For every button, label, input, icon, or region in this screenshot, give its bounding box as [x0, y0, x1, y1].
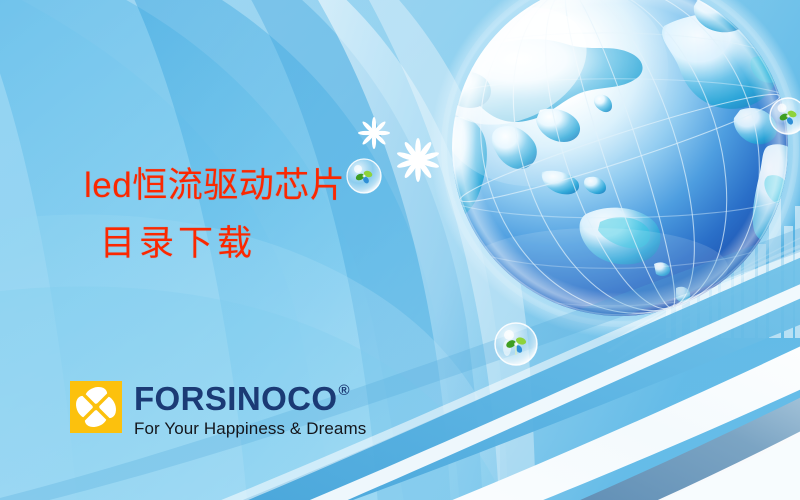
blue-earth-globe [403, 0, 800, 350]
logo-wordmark: FORSINOCO ® [134, 382, 350, 415]
headline-line-1: led恒流驱动芯片 [84, 168, 345, 203]
white-starburst-flower-small [358, 117, 390, 149]
pinwheel-icon [70, 381, 122, 433]
diagonal-ribbon-bands [0, 224, 800, 500]
logo-text-group: FORSINOCO ® For Your Happiness & Dreams [134, 381, 366, 437]
company-logo-lockup[interactable]: FORSINOCO ® For Your Happiness & Dreams [70, 381, 366, 437]
registered-trademark-icon: ® [338, 383, 349, 398]
bubble-pinwheel-left [347, 159, 381, 193]
headline-text-block: led恒流驱动芯片 目录下载 [84, 168, 345, 261]
green-sprout-icon [505, 336, 527, 355]
logo-wordmark-text: FORSINOCO [134, 382, 337, 415]
forsinoco-pinwheel-mark [70, 381, 122, 433]
white-starburst-flowers [358, 117, 440, 182]
bubble-pinwheel-center [495, 323, 537, 365]
city-skyline-icon [666, 174, 800, 338]
globe-latitude-lines [456, 33, 784, 306]
green-pinwheel-icon [779, 110, 798, 126]
banner-canvas: led恒流驱动芯片 目录下载 [0, 0, 800, 500]
skyline-light-streaks [600, 238, 800, 372]
green-pinwheel-icon [355, 170, 373, 185]
continents [436, 0, 800, 302]
white-starburst-flower-large [396, 138, 440, 182]
headline-line-2: 目录下载 [100, 226, 345, 261]
globe-longitude-lines [439, 0, 800, 350]
logo-tagline: For Your Happiness & Dreams [134, 420, 366, 437]
bubble-pinwheel-right [770, 98, 800, 134]
